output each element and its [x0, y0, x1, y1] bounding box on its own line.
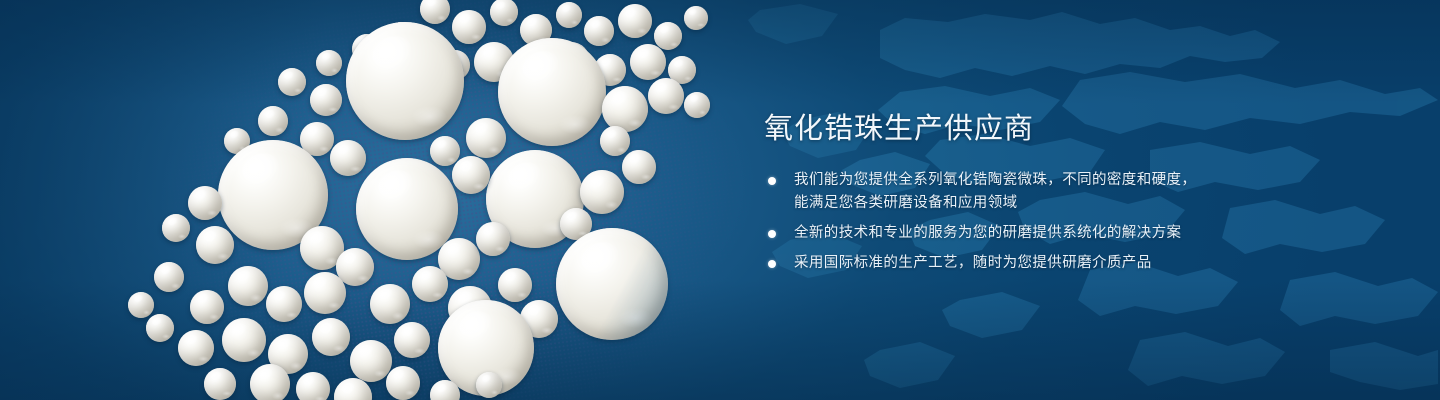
- bullet-dot-icon: [768, 177, 776, 185]
- banner-headline: 氧化锆珠生产供应商: [764, 110, 1034, 148]
- feature-text-line: 能满足您各类研磨设备和应用领域: [794, 192, 1196, 215]
- feature-text-line: 全新的技术和专业的服务为您的研磨提供系统化的解决方案: [794, 222, 1196, 245]
- zirconia-beads-image: [0, 0, 780, 400]
- bullet-dot-icon: [768, 260, 776, 268]
- feature-list-item: 采用国际标准的生产工艺，随时为您提供研磨介质产品: [766, 252, 1196, 275]
- feature-text-line: 我们能为您提供全系列氧化锆陶瓷微珠，不同的密度和硬度，: [794, 169, 1196, 192]
- hero-banner: 氧化锆珠生产供应商 我们能为您提供全系列氧化锆陶瓷微珠，不同的密度和硬度， 能满…: [0, 0, 1440, 400]
- feature-text-line: 采用国际标准的生产工艺，随时为您提供研磨介质产品: [794, 252, 1196, 275]
- banner-text-block: 氧化锆珠生产供应商 我们能为您提供全系列氧化锆陶瓷微珠，不同的密度和硬度， 能满…: [764, 0, 1384, 400]
- bullet-dot-icon: [768, 230, 776, 238]
- feature-list-item: 我们能为您提供全系列氧化锆陶瓷微珠，不同的密度和硬度， 能满足您各类研磨设备和应…: [766, 169, 1196, 215]
- feature-list: 我们能为您提供全系列氧化锆陶瓷微珠，不同的密度和硬度， 能满足您各类研磨设备和应…: [766, 169, 1196, 275]
- feature-list-item: 全新的技术和专业的服务为您的研磨提供系统化的解决方案: [766, 222, 1196, 245]
